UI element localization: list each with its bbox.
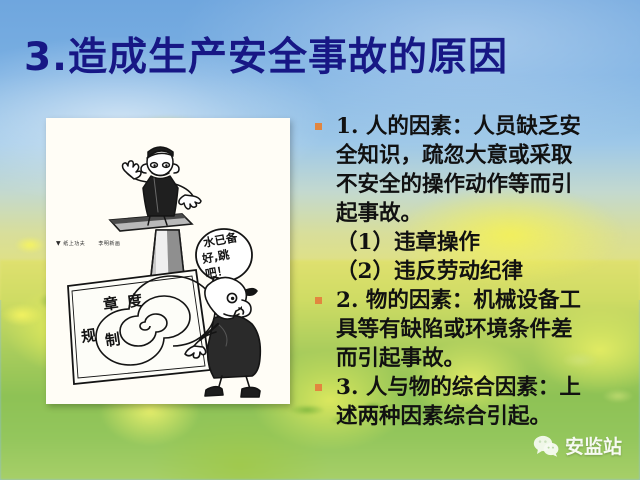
- body-line-text: （2）违反劳动纪律: [336, 259, 523, 284]
- caption-marker-icon: ▼: [56, 240, 61, 247]
- body-text-block: 1. 人的因素：人员缺乏安 全知识，疏忽大意或采取 不安全的操作动作等而引 起事…: [310, 112, 640, 431]
- body-line-text: 全知识，疏忽大意或采取: [336, 143, 573, 168]
- body-line: 3. 人与物的综合因素：上: [310, 373, 640, 402]
- bullet-marker-1: [315, 123, 322, 130]
- body-line: 具等有缺陷或环境条件差: [310, 315, 640, 344]
- body-line-text: （1）违章操作: [336, 230, 480, 255]
- body-line: 不安全的操作动作等而引: [310, 170, 640, 199]
- body-line-text: 具等有缺陷或环境条件差: [336, 317, 573, 342]
- body-line: 1. 人的因素：人员缺乏安: [310, 112, 640, 141]
- caption-title: 纸上功夫: [63, 241, 85, 247]
- cartoon-image-frame: 水已备 好,跳 吧！ 章 度 规 制: [46, 118, 290, 404]
- body-line-text: 不安全的操作动作等而引: [336, 172, 573, 197]
- body-line: 2. 物的因素：机械设备工: [310, 286, 640, 315]
- caption-credit: 李明新画: [98, 241, 120, 247]
- body-line: （1）违章操作: [310, 228, 640, 257]
- safety-cartoon-illustration: 水已备 好,跳 吧！ 章 度 规 制: [46, 118, 290, 404]
- poster-char-4: 制: [104, 330, 121, 350]
- title-number: 3.: [24, 35, 68, 80]
- body-line: 而引起事故。: [310, 344, 640, 373]
- body-line-text: 1. 人的因素：人员缺乏安: [336, 114, 581, 139]
- body-line-text: 起事故。: [336, 201, 422, 226]
- body-line-text: 3. 人与物的综合因素：上: [336, 375, 581, 400]
- regulations-poster: 章 度 规 制: [68, 270, 215, 384]
- body-line-text: 述两种因素综合引起。: [336, 404, 551, 429]
- watermark: 安监站: [533, 432, 622, 459]
- slide-canvas: 3.造成生产安全事故的原因: [0, 0, 640, 480]
- poster-char-3: 规: [80, 326, 97, 346]
- cartoon-caption: ▼ 纸上功夫 李明新画: [56, 240, 120, 247]
- body-line: 起事故。: [310, 199, 640, 228]
- title-text: 造成生产安全事故的原因: [68, 34, 508, 80]
- body-line: （2）违反劳动纪律: [310, 257, 640, 286]
- bullet-marker-3: [315, 384, 322, 391]
- poster-char-1: 章: [102, 294, 119, 314]
- body-line-text: 而引起事故。: [336, 346, 465, 371]
- watermark-label: 安监站: [565, 432, 622, 459]
- wechat-icon: [533, 435, 559, 457]
- page-title: 3.造成生产安全事故的原因: [24, 36, 508, 79]
- body-line: 述两种因素综合引起。: [310, 402, 640, 431]
- body-line-text: 2. 物的因素：机械设备工: [336, 288, 581, 313]
- body-line: 全知识，疏忽大意或采取: [310, 141, 640, 170]
- bullet-marker-2: [315, 297, 322, 304]
